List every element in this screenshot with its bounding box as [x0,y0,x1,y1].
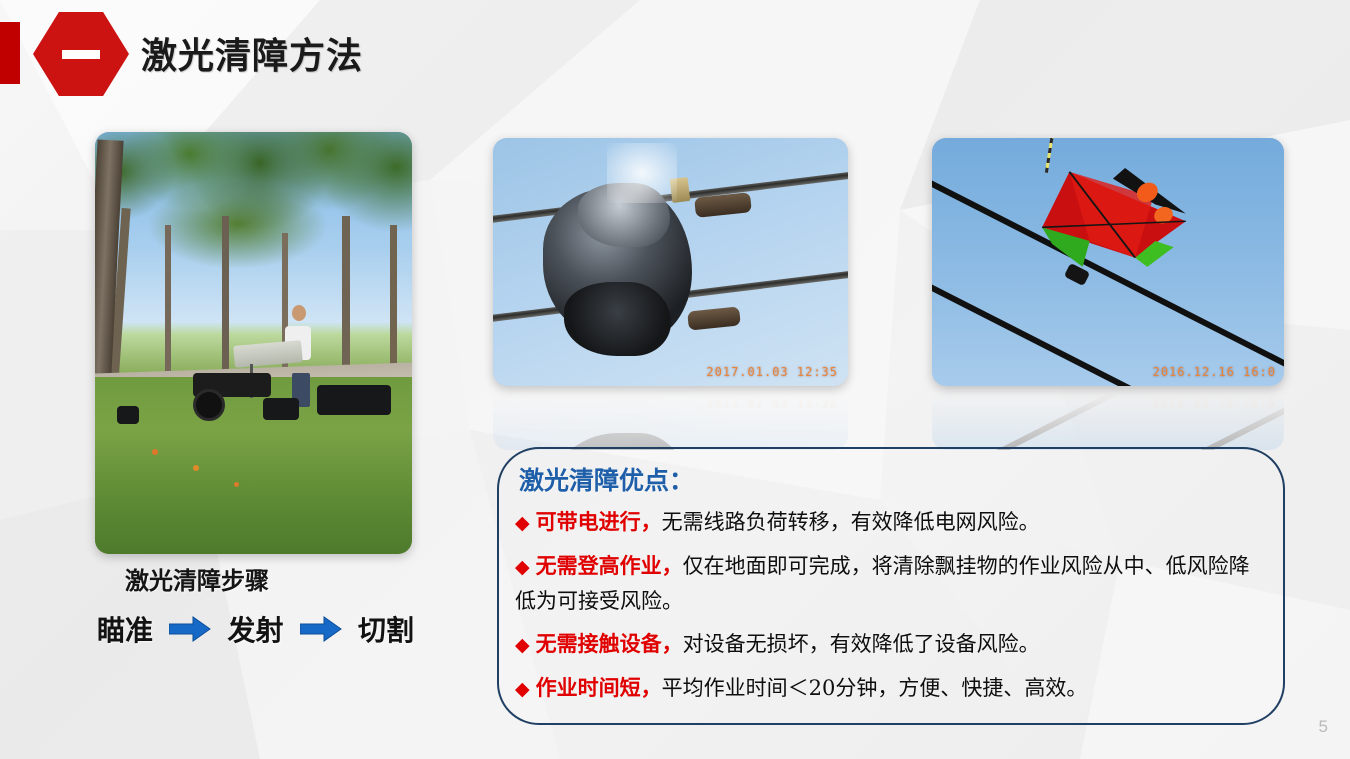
diamond-bullet-icon: ◆ [515,556,530,578]
section-number-hexagon [33,12,129,96]
diamond-bullet-icon: ◆ [515,634,530,656]
photo-laser-field-operation [95,132,412,554]
advantage-highlight: 可带电进行， [536,509,662,534]
header-red-bar [0,22,20,84]
advantage-detail: 无需线路负荷转移，有效降低电网风险。 [662,510,1040,534]
photo-burnt-debris-on-powerline: 2017.01.03 12:35 [493,138,848,386]
page-number: 5 [1319,717,1328,737]
diamond-bullet-icon: ◆ [515,512,530,534]
diamond-bullet-icon: ◆ [515,678,530,700]
advantages-box: 激光清障优点： ◆可带电进行，无需线路负荷转移，有效降低电网风险。 ◆无需登高作… [497,447,1285,725]
list-item: ◆可带电进行，无需线路负荷转移，有效降低电网风险。 [515,505,1263,540]
hexagon-dash-icon [62,50,100,59]
photo-timestamp: 2017.01.03 12:35 [706,365,838,379]
step-label-aim: 瞄准 [97,609,153,649]
advantage-detail: 对设备无损坏，有效降低了设备风险。 [683,632,1040,656]
step-label-fire: 发射 [227,609,283,649]
steps-row: 瞄准 发射 切割 [95,609,416,649]
step-label-cut: 切割 [358,609,414,649]
slide-canvas: 激光清障方法 [0,0,1350,759]
list-item: ◆无需接触设备，对设备无损坏，有效降低了设备风险。 [515,627,1263,662]
page-title: 激光清障方法 [141,27,363,79]
list-item: ◆作业时间短，平均作业时间＜20分钟，方便、快捷、高效。 [515,671,1263,706]
advantage-highlight: 作业时间短， [536,675,662,700]
steps-caption-title: 激光清障步骤 [125,561,269,596]
steps-caption-block: 激光清障步骤 瞄准 发射 切割 [95,551,412,669]
advantage-detail: 平均作业时间＜20分钟，方便、快捷、高效。 [662,676,1088,700]
right-arrow-icon [169,616,211,642]
advantage-highlight: 无需接触设备， [536,631,683,656]
right-arrow-icon [300,616,342,642]
advantages-heading: 激光清障优点： [519,461,694,497]
list-item: ◆无需登高作业，仅在地面即可完成，将清除飘挂物的作业风险从中、低风险降低为可接受… [515,549,1263,618]
photo-kite-on-powerline: 2016.12.16 16:0 [932,138,1284,386]
photo-timestamp: 2016.12.16 16:0 [1153,365,1276,379]
advantage-highlight: 无需登高作业， [536,553,683,578]
advantages-list: ◆可带电进行，无需线路负荷转移，有效降低电网风险。 ◆无需登高作业，仅在地面即可… [515,505,1263,715]
